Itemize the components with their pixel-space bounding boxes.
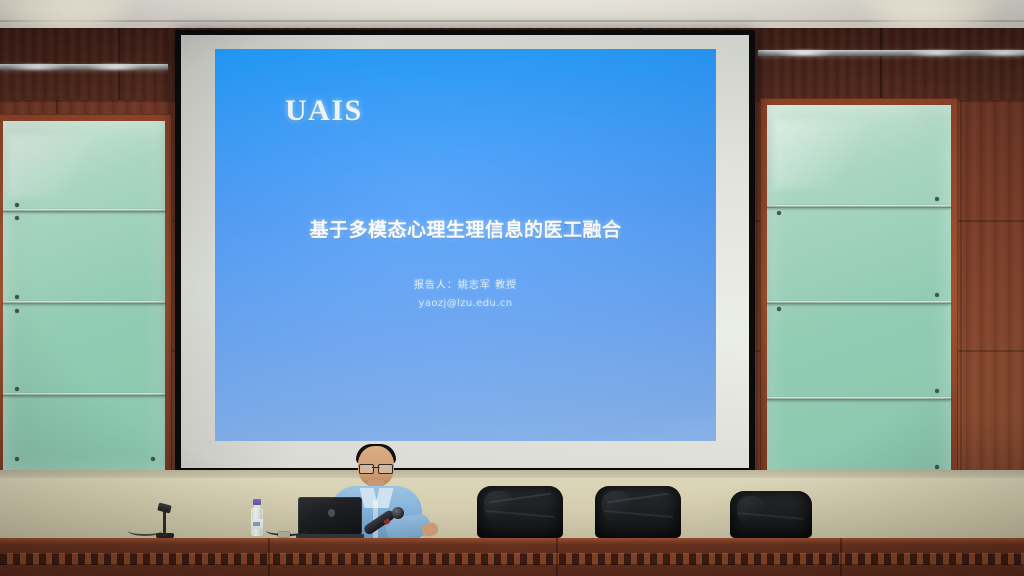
chair-2 — [595, 486, 681, 538]
bottle-cap — [253, 499, 261, 505]
handheld-microphone — [368, 506, 408, 536]
board-glare — [9, 135, 100, 198]
green-board-right — [760, 98, 958, 494]
water-bottle — [251, 499, 263, 536]
laptop-logo-icon — [328, 509, 335, 517]
wainscot-trim — [0, 470, 1024, 478]
side-cable — [128, 526, 162, 536]
green-board-right-surface — [767, 105, 951, 487]
projector-screen-frame: UAIS 基于多模态心理生理信息的医工融合 报告人：姚志军 教授 yaozj@l… — [175, 30, 755, 475]
chair-3 — [730, 491, 812, 538]
desk-lattice-trim — [0, 553, 1024, 565]
green-board-left — [0, 114, 172, 480]
projector-screen-surface: UAIS 基于多模态心理生理信息的医工融合 报告人：姚志军 教授 yaozj@l… — [181, 35, 749, 468]
lecture-hall-photo: UAIS 基于多模态心理生理信息的医工融合 报告人：姚志军 教授 yaozj@l… — [0, 0, 1024, 576]
presentation-slide: UAIS 基于多模态心理生理信息的医工融合 报告人：姚志军 教授 yaozj@l… — [215, 49, 716, 441]
board-glare — [774, 120, 877, 189]
slide-title: 基于多模态心理生理信息的医工融合 — [215, 215, 716, 242]
slide-email: yaozj@lzu.edu.cn — [215, 298, 716, 309]
slide-presenter-line: 报告人：姚志军 教授 — [215, 276, 716, 291]
glasses-icon — [359, 464, 393, 472]
wall-light-strip-left — [0, 64, 168, 70]
slide-logo-uais: UAIS — [285, 94, 363, 128]
green-board-left-surface — [3, 121, 165, 473]
desk-connector-box — [278, 532, 290, 537]
chair-1 — [477, 486, 563, 538]
podium-desk-front — [0, 538, 1024, 576]
desk-top-edge — [0, 538, 1024, 544]
wall-light-strip-right — [758, 50, 1024, 56]
microphone-head-icon — [392, 507, 404, 519]
